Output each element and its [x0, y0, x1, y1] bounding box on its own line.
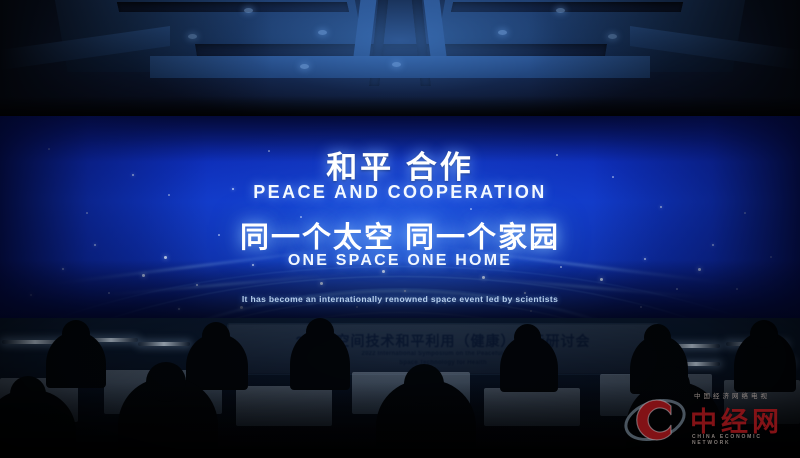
screen-subhead-cn: 同一个太空 同一个家园	[0, 214, 800, 256]
screen-subhead-en: ONE SPACE ONE HOME	[0, 252, 800, 270]
audience-area: 2022 空间技术和平利用（健康）国际研讨会 2022 Internationa…	[0, 318, 800, 458]
screenshot-root: 和平 合作 PEACE AND COOPERATION 同一个太空 同一个家园 …	[0, 0, 800, 458]
letterbox-bottom	[0, 449, 800, 458]
screen-headline-cn: 和平 合作	[0, 142, 800, 187]
watermark-brand-en: CHINA ECONOMIC NETWORK	[692, 434, 796, 446]
ceiling	[0, 0, 800, 122]
watermark-top-text: 中国经济网络电视	[694, 390, 794, 400]
screen-headline-en: PEACE AND COOPERATION	[0, 182, 800, 203]
watermark: 中国经济网络电视 中经网 CHINA ECONOMIC NETWORK	[624, 388, 796, 450]
china-economic-network-logo-icon	[624, 392, 686, 446]
led-screen: 和平 合作 PEACE AND COOPERATION 同一个太空 同一个家园 …	[0, 116, 800, 320]
screen-tagline: It has become an internationally renowne…	[0, 294, 800, 304]
